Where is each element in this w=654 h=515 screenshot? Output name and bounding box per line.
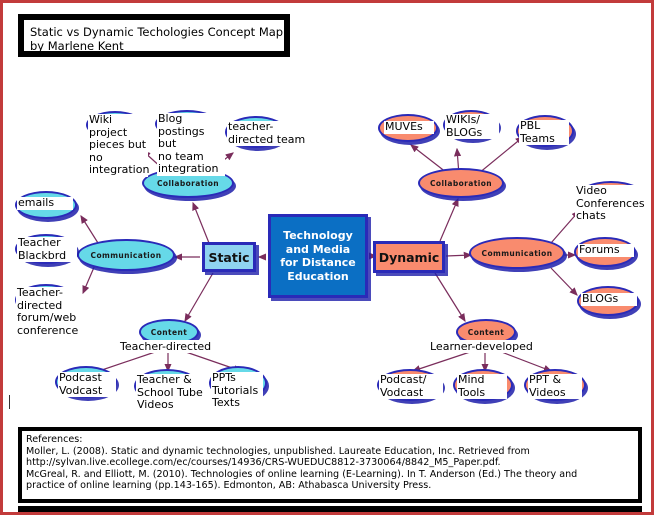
dynamic-content-leaf-mind-tools[interactable]: Mind Tools bbox=[457, 374, 507, 399]
center-node-technology-and-media[interactable]: Technology and Media for Distance Educat… bbox=[268, 214, 368, 298]
title-box: Static vs Dynamic Techologies Concept Ma… bbox=[18, 14, 290, 57]
reference-line-1: Moller, L. (2008). Static and dynamic te… bbox=[26, 446, 634, 458]
dynamic-comm-leaf-video-conferences[interactable]: Video Conferences chats bbox=[575, 185, 653, 223]
dynamic-collab-leaf-muves[interactable]: MUVEs bbox=[384, 121, 434, 134]
dynamic-content-leaf-podcast[interactable]: Podcast/ Vodcast bbox=[379, 374, 443, 399]
references-box: References: Moller, L. (2008). Static an… bbox=[18, 427, 642, 503]
title-line-2: by Marlene Kent bbox=[24, 39, 284, 53]
dynamic-comm-leaf-forums[interactable]: Forums bbox=[578, 244, 634, 257]
static-comm-leaf-teacher-blackbrd[interactable]: Teacher Blackbrd bbox=[17, 237, 77, 262]
dynamic-content-leaf-ppt-videos[interactable]: PPT & Videos bbox=[528, 374, 582, 399]
dynamic-collab-leaf-wikis-blogs[interactable]: WIKIs/ BLOGs bbox=[445, 114, 499, 139]
static-collab-leaf-teacher-directed-team[interactable]: teacher- directed team bbox=[227, 121, 309, 146]
static-content-leaf-ppts[interactable]: PPTs Tutorials Texts bbox=[211, 372, 263, 410]
dynamic-node[interactable]: Dynamic bbox=[373, 241, 445, 273]
dynamic-node-label: Dynamic bbox=[379, 250, 440, 265]
static-content-sublabel: Teacher-directed bbox=[120, 340, 211, 353]
static-content-leaf-podcast[interactable]: Podcast Vodcast bbox=[58, 372, 116, 397]
dynamic-collaboration-label: Collaboration bbox=[418, 168, 504, 198]
static-collab-leaf-wiki[interactable]: Wiki project pieces but no integration bbox=[88, 114, 148, 177]
references-heading: References: bbox=[26, 434, 634, 446]
static-collab-leaf-blog[interactable]: Blog postings but no team integration bbox=[157, 113, 225, 176]
reference-line-4: practice of online learning (pp.143-165)… bbox=[26, 480, 634, 492]
concept-map-page: Static vs Dynamic Techologies Concept Ma… bbox=[0, 0, 654, 515]
static-content-leaf-school-tube[interactable]: Teacher & School Tube Videos bbox=[136, 374, 206, 412]
reference-line-3: McGreal, R. and Elliott, M. (2010). Tech… bbox=[26, 469, 634, 481]
static-comm-leaf-teacher-directed-forum[interactable]: Teacher- directed forum/web conference bbox=[16, 287, 80, 337]
dynamic-content-sublabel: Learner-developed bbox=[430, 340, 533, 353]
static-communication-label: Communication bbox=[77, 239, 175, 271]
center-node-label: Technology and Media for Distance Educat… bbox=[280, 229, 356, 283]
dynamic-communication-label: Communication bbox=[469, 237, 565, 269]
footer-rule bbox=[18, 506, 642, 512]
static-node-label: Static bbox=[208, 250, 249, 265]
static-node[interactable]: Static bbox=[202, 242, 256, 272]
reference-line-2: http://sylvan.live.ecollege.com/ec/cours… bbox=[26, 457, 634, 469]
static-comm-leaf-emails[interactable]: emails bbox=[17, 197, 73, 210]
title-line-1: Static vs Dynamic Techologies Concept Ma… bbox=[24, 20, 284, 39]
dynamic-comm-leaf-blogs[interactable]: BLOGs bbox=[581, 293, 637, 306]
page-edge-tick bbox=[9, 395, 10, 409]
dynamic-collab-leaf-pbl-teams[interactable]: PBL Teams bbox=[519, 120, 569, 145]
